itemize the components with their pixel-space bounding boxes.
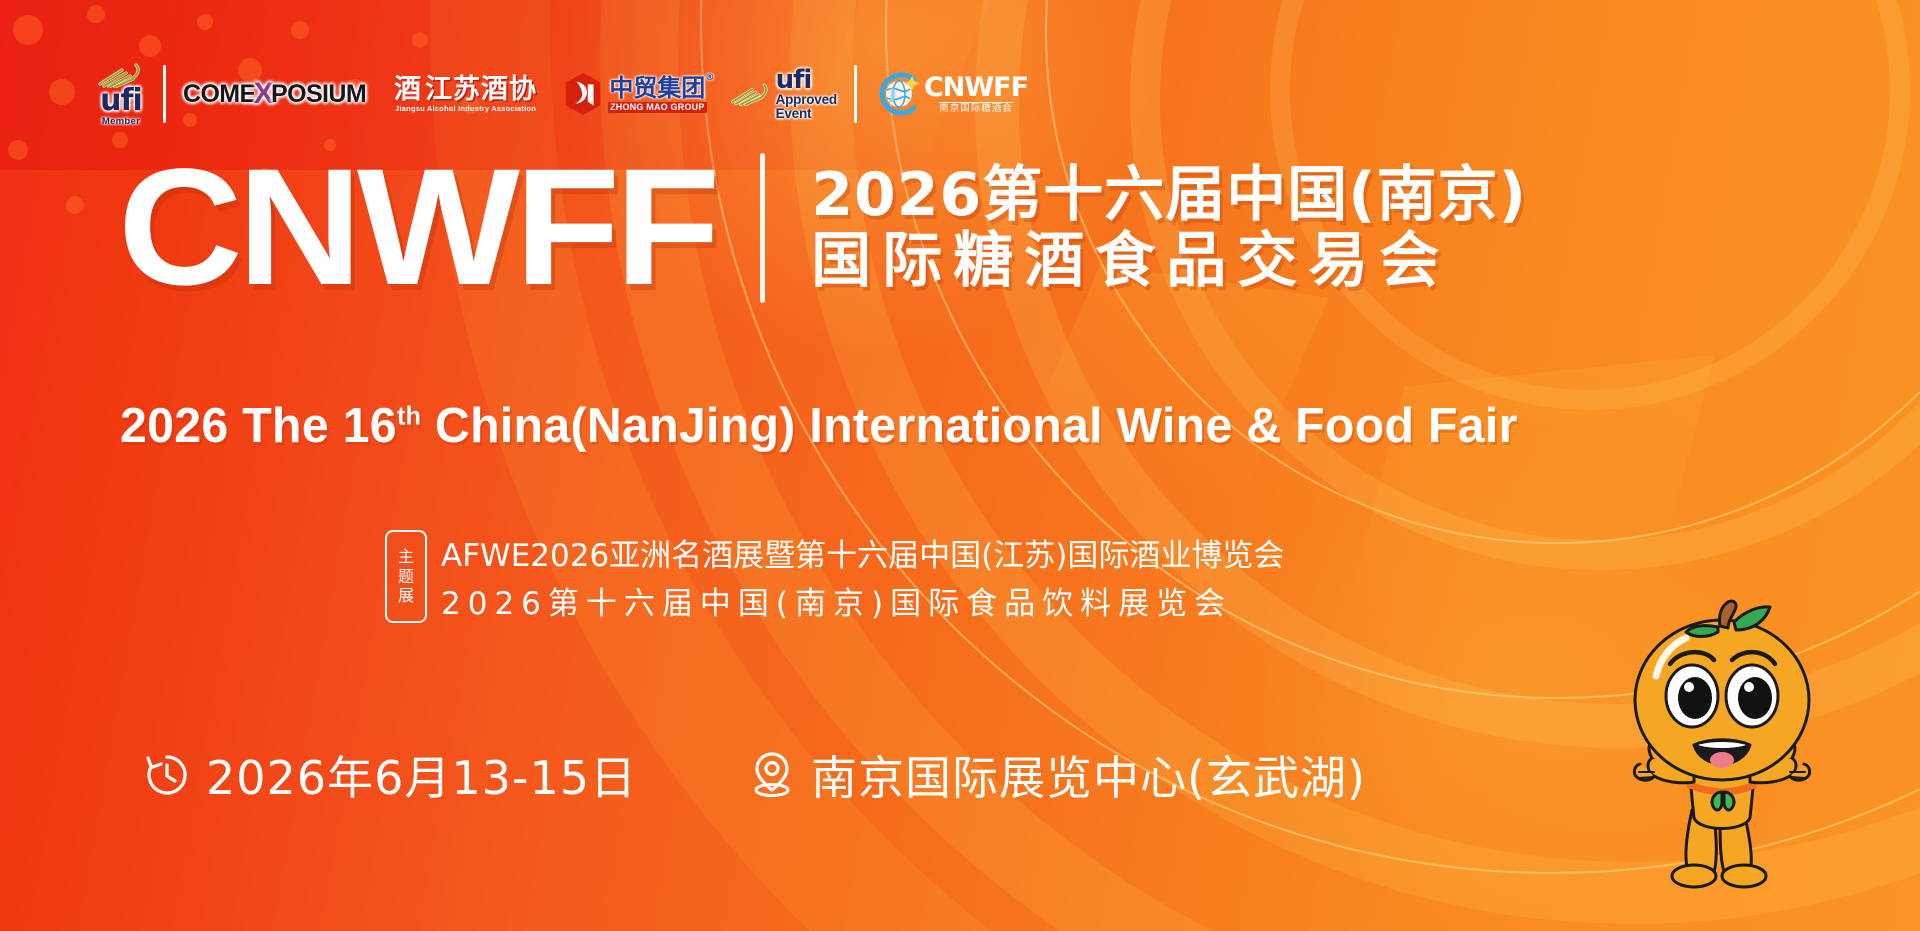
ufi-wordmark: ufi (776, 67, 837, 94)
partner-logo-strip: ufi Member COMEXPOSIUM 酒 江苏酒协 Jiangsu Al… (96, 55, 1028, 133)
clock-icon (142, 750, 192, 800)
theme-badge-char-2: 题 (398, 568, 414, 586)
jiangsu-seal-glyph: 酒 (394, 76, 421, 103)
logo-ufi-member[interactable]: ufi Member (96, 55, 146, 133)
event-date-item: 2026年6月13-15日 (142, 742, 637, 808)
zhongmao-hexagon-icon (563, 72, 603, 116)
event-info-row: 2026年6月13-15日 南京国际展览中心(玄武湖) (142, 742, 1366, 808)
zhongmao-cn-name: 中贸集团® (609, 76, 705, 100)
cnwff-logo-cn-name: 南京国际糖酒会 (939, 102, 1013, 114)
ufi-member-label: Member (102, 117, 140, 127)
ufi-wordmark: ufi (100, 86, 142, 116)
event-venue-text: 南京国际展览中心(玄武湖) (811, 742, 1366, 808)
logo-zhong-mao-group[interactable]: 中贸集团® ZHONG MAO GROUP (563, 55, 707, 133)
event-venue-item: 南京国际展览中心(玄武湖) (747, 742, 1366, 808)
ufi-event-label: Event (776, 107, 837, 121)
registered-mark: ® (705, 74, 714, 83)
banner-canvas: ufi Member COMEXPOSIUM 酒 江苏酒协 Jiangsu Al… (0, 0, 1920, 931)
theme-badge-char-1: 主 (398, 548, 414, 566)
comexposium-part-1: COME (183, 80, 256, 109)
theme-badge-char-3: 展 (398, 587, 414, 605)
hero-cn-line-1: 2026第十六届中国(南京) (811, 163, 1527, 228)
globe-swoosh-icon (874, 70, 922, 118)
logo-divider (163, 65, 166, 123)
hero-divider (760, 153, 765, 303)
logo-jiangsu-wine-association[interactable]: 酒 江苏酒协 Jiangsu Alcohol Industry Associat… (394, 55, 537, 133)
theme-line-2: 2026第十六届中国(南京)国际食品饮料展览会 (441, 578, 1284, 623)
hero-en-subtitle: 2026 The 16th China(NanJing) Internation… (120, 398, 1518, 454)
zhongmao-en-name: ZHONG MAO GROUP (608, 102, 707, 113)
hero-acronym: CNWFF (118, 152, 715, 305)
orange-mascot (1594, 582, 1854, 912)
ordinal-suffix: th (397, 403, 421, 431)
hero-title-block: CNWFF 2026第十六届中国(南京) 国际糖酒食品交易会 (118, 152, 1527, 305)
theme-badge: 主 题 展 (385, 530, 427, 623)
ufi-wing-icon (729, 79, 773, 109)
event-date-text: 2026年6月13-15日 (206, 742, 637, 808)
logo-comexposium[interactable]: COMEXPOSIUM (183, 55, 366, 133)
jiangsu-en-name: Jiangsu Alcohol Industry Association (395, 105, 536, 113)
theme-exhibition-block: 主 题 展 AFWE2026亚洲名酒展暨第十六届中国(江苏)国际酒业博览会 20… (385, 530, 1284, 623)
logo-cnwff[interactable]: CNWFF 南京国际糖酒会 (874, 55, 1028, 133)
hero-en-pre: 2026 The 16 (120, 399, 397, 453)
theme-line-1: AFWE2026亚洲名酒展暨第十六届中国(江苏)国际酒业博览会 (441, 530, 1284, 575)
location-pin-icon (747, 749, 797, 801)
comexposium-part-2: POSIUM (271, 80, 366, 109)
hero-en-post: China(NanJing) International Wine & Food… (421, 399, 1517, 453)
logo-divider (854, 65, 857, 123)
jiangsu-cn-name: 江苏酒协 (425, 76, 537, 103)
logo-ufi-approved-event[interactable]: ufi Approved Event (729, 55, 837, 133)
cnwff-logo-wordmark: CNWFF (924, 74, 1028, 101)
hero-cn-line-2: 国际糖酒食品交易会 (811, 229, 1527, 294)
